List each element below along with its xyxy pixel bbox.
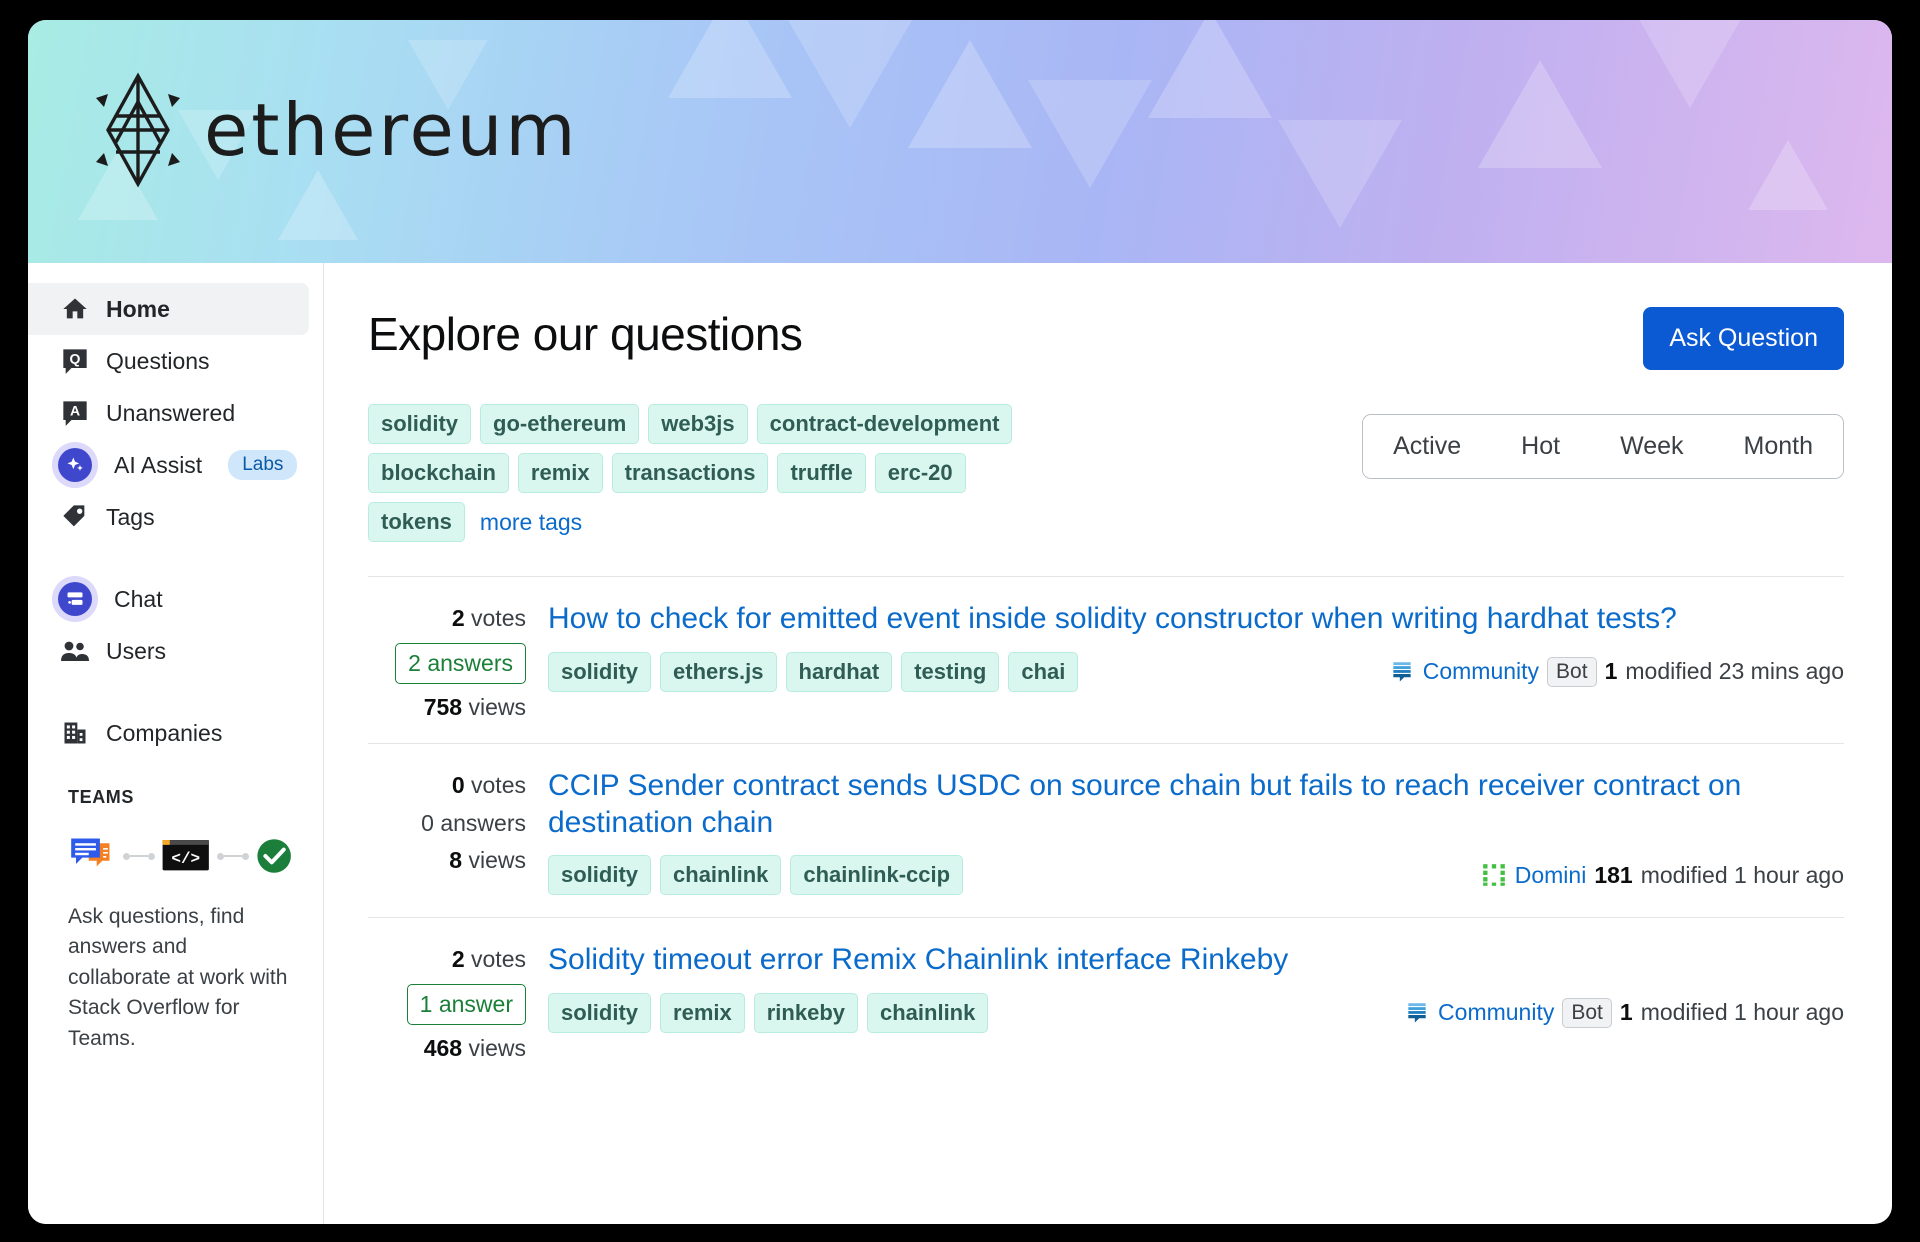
question-tag[interactable]: hardhat (786, 652, 893, 692)
question-tag[interactable]: testing (901, 652, 999, 692)
user-reputation: 1 (1620, 999, 1633, 1026)
question-stats: 0 votes0 answers8 views (368, 768, 526, 895)
tag-cloud: soliditygo-ethereumweb3jscontract-develo… (368, 404, 1068, 542)
sidebar-item-label: Home (106, 296, 170, 323)
check-circle-icon (255, 832, 293, 880)
ask-question-button[interactable]: Ask Question (1643, 307, 1844, 370)
tag-icon (60, 502, 90, 532)
decorative-triangle (1028, 80, 1152, 188)
teams-promo[interactable]: </> Ask questions, find answers and coll… (28, 808, 323, 1054)
filter-row: soliditygo-ethereumweb3jscontract-develo… (368, 404, 1844, 542)
filter-tag[interactable]: transactions (612, 453, 769, 493)
sort-tab-active[interactable]: Active (1363, 415, 1491, 478)
user-link[interactable]: Community (1438, 999, 1554, 1026)
filter-tag[interactable]: go-ethereum (480, 404, 639, 444)
connector-dots (217, 853, 249, 860)
home-icon (60, 294, 90, 324)
page-title: Explore our questions (368, 307, 802, 361)
question-tags: soliditychainlinkchainlink-ccip (548, 855, 963, 895)
decorative-triangle (1478, 60, 1602, 168)
sidebar-item-companies[interactable]: Companies (28, 707, 323, 759)
svg-text:Q: Q (70, 350, 81, 366)
code-window-icon: </> (161, 832, 210, 880)
decorative-triangle (1628, 20, 1752, 108)
activity-timestamp: modified 1 hour ago (1641, 999, 1844, 1026)
svg-text:</>: </> (172, 850, 201, 868)
question-title-link[interactable]: CCIP Sender contract sends USDC on sourc… (548, 768, 1844, 841)
activity-timestamp: modified 23 mins ago (1625, 658, 1844, 685)
sidebar-item-label: Unanswered (106, 400, 235, 427)
user-reputation: 181 (1594, 862, 1632, 889)
user-link[interactable]: Community (1423, 658, 1539, 685)
logo-wordmark: ethereum (204, 88, 579, 172)
user-reputation: 1 (1605, 658, 1618, 685)
filter-tag[interactable]: contract-development (757, 404, 1013, 444)
sidebar-item-questions[interactable]: Q Questions (28, 335, 323, 387)
app-window: ethereum Home Q Questions A Un (28, 20, 1892, 1224)
sidebar-item-label: Tags (106, 504, 155, 531)
question-tags: solidityethers.jshardhattestingchai (548, 652, 1078, 692)
sort-tab-hot[interactable]: Hot (1491, 415, 1590, 478)
sidebar-item-home[interactable]: Home (28, 283, 309, 335)
question-tag[interactable]: rinkeby (754, 993, 858, 1033)
decorative-triangle (1278, 120, 1402, 228)
sidebar-item-label: Questions (106, 348, 210, 375)
labs-badge: Labs (228, 450, 297, 480)
filter-tag[interactable]: tokens (368, 502, 465, 542)
user-link[interactable]: Domini (1515, 862, 1587, 889)
community-bot-icon (1404, 1000, 1430, 1026)
left-sidebar: Home Q Questions A Unanswered (28, 263, 324, 1224)
question-tag[interactable]: chainlink (867, 993, 988, 1033)
question-tag[interactable]: ethers.js (660, 652, 777, 692)
sidebar-item-users[interactable]: Users (28, 625, 323, 677)
sort-tab-month[interactable]: Month (1714, 415, 1843, 478)
question-tag[interactable]: chai (1008, 652, 1078, 692)
question-tag[interactable]: solidity (548, 855, 651, 895)
question-body: How to check for emitted event inside so… (548, 601, 1844, 721)
question-stats: 2 votes1 answer468 views (368, 942, 526, 1062)
bot-badge: Bot (1562, 998, 1612, 1028)
question-tag[interactable]: chainlink (660, 855, 781, 895)
teams-section-heading: TEAMS (28, 759, 323, 808)
filter-tag[interactable]: erc-20 (875, 453, 966, 493)
sort-tab-week[interactable]: Week (1590, 415, 1713, 478)
chat-icon (52, 576, 98, 622)
filter-tag[interactable]: web3js (648, 404, 747, 444)
vote-count: 0 votes (452, 772, 526, 800)
sidebar-item-ai-assist[interactable]: AI Assist Labs (28, 439, 323, 491)
question-tag[interactable]: chainlink-ccip (790, 855, 963, 895)
site-banner: ethereum (28, 20, 1892, 263)
bot-badge: Bot (1547, 657, 1597, 687)
question-footer: solidityremixrinkebychainlinkCommunityBo… (548, 993, 1844, 1033)
decorative-triangle (788, 20, 912, 128)
question-body: Solidity timeout error Remix Chainlink i… (548, 942, 1844, 1062)
chat-bubbles-icon (68, 832, 117, 880)
answer-bubble-icon: A (60, 398, 90, 428)
users-icon (60, 636, 90, 666)
question-tag[interactable]: remix (660, 993, 745, 1033)
sidebar-item-tags[interactable]: Tags (28, 491, 323, 543)
sidebar-item-label: Chat (114, 586, 163, 613)
question-meta: Domini181modified 1 hour ago (1481, 862, 1844, 889)
view-count: 8 views (449, 847, 526, 875)
question-row: 2 votes2 answers758 viewsHow to check fo… (368, 576, 1844, 743)
view-count: 758 views (424, 694, 526, 722)
decorative-triangle (1748, 140, 1828, 210)
vote-count: 2 votes (452, 605, 526, 633)
sidebar-divider-gap-2 (28, 677, 323, 707)
question-bubble-icon: Q (60, 346, 90, 376)
question-list: 2 votes2 answers758 viewsHow to check fo… (368, 576, 1844, 1085)
question-footer: solidityethers.jshardhattestingchaiCommu… (548, 652, 1844, 692)
main-header: Explore our questions Ask Question (368, 307, 1844, 370)
sidebar-divider-gap (28, 543, 323, 573)
question-footer: soliditychainlinkchainlink-ccipDomini181… (548, 855, 1844, 895)
filter-tag[interactable]: blockchain (368, 453, 509, 493)
sidebar-item-label: Users (106, 638, 166, 665)
question-title-link[interactable]: How to check for emitted event inside so… (548, 601, 1844, 638)
decorative-triangle (668, 20, 792, 98)
answer-count: 2 answers (395, 643, 526, 684)
filter-tag[interactable]: remix (518, 453, 603, 493)
question-row: 2 votes1 answer468 viewsSolidity timeout… (368, 917, 1844, 1084)
building-icon (60, 718, 90, 748)
question-stats: 2 votes2 answers758 views (368, 601, 526, 721)
more-tags-link[interactable]: more tags (480, 509, 582, 536)
question-tags: solidityremixrinkebychainlink (548, 993, 988, 1033)
main-content: Explore our questions Ask Question solid… (324, 263, 1892, 1224)
teams-promo-text: Ask questions, find answers and collabor… (68, 902, 293, 1054)
ai-sparkle-icon (52, 442, 98, 488)
site-logo[interactable]: ethereum (90, 72, 579, 188)
connector-dots (123, 853, 155, 860)
identicon-avatar (1481, 862, 1507, 888)
sidebar-item-chat[interactable]: Chat (28, 573, 323, 625)
answer-count: 1 answer (407, 984, 526, 1025)
decorative-triangle (908, 40, 1032, 148)
svg-text:A: A (70, 402, 80, 418)
view-count: 468 views (424, 1035, 526, 1063)
question-title-link[interactable]: Solidity timeout error Remix Chainlink i… (548, 942, 1844, 979)
teams-promo-illustration: </> (68, 832, 293, 880)
sort-tabs: ActiveHotWeekMonth (1362, 414, 1844, 479)
question-meta: CommunityBot1modified 1 hour ago (1404, 998, 1844, 1028)
sidebar-item-unanswered[interactable]: A Unanswered (28, 387, 323, 439)
sidebar-item-label: Companies (106, 720, 222, 747)
community-bot-icon (1389, 659, 1415, 685)
sidebar-item-label: AI Assist (114, 452, 202, 479)
question-body: CCIP Sender contract sends USDC on sourc… (548, 768, 1844, 895)
question-row: 0 votes0 answers8 viewsCCIP Sender contr… (368, 743, 1844, 917)
question-tag[interactable]: solidity (548, 652, 651, 692)
filter-tag[interactable]: solidity (368, 404, 471, 444)
ethereum-diamond-icon (90, 72, 186, 188)
vote-count: 2 votes (452, 946, 526, 974)
filter-tag[interactable]: truffle (777, 453, 865, 493)
answer-count: 0 answers (421, 810, 526, 838)
activity-timestamp: modified 1 hour ago (1641, 862, 1844, 889)
decorative-triangle (1148, 20, 1272, 118)
question-meta: CommunityBot1modified 23 mins ago (1389, 657, 1844, 687)
question-tag[interactable]: solidity (548, 993, 651, 1033)
